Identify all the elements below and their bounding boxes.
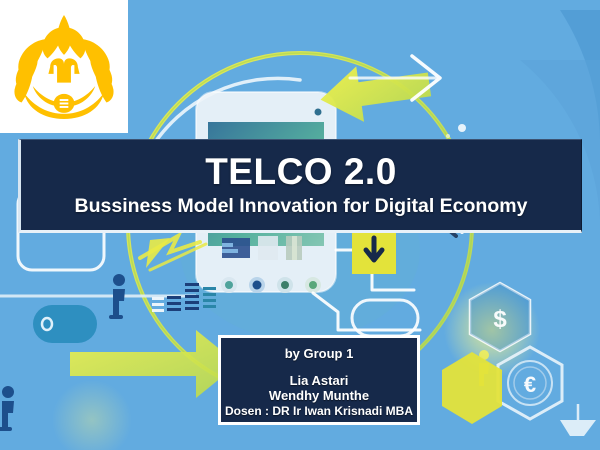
university-logo-plate: [0, 0, 128, 133]
author-name-1: Lia Astari: [290, 374, 349, 389]
slide-subtitle: Bussiness Model Innovation for Digital E…: [75, 196, 528, 217]
advisor-label: Dosen : DR Ir Iwan Krisnadi MBA: [225, 404, 413, 418]
title-banner: TELCO 2.0 Bussiness Model Innovation for…: [18, 139, 582, 233]
makara-logo-icon: [12, 13, 116, 121]
author-group-label: by Group 1: [285, 346, 354, 361]
author-box: by Group 1 Lia Astari Wendhy Munthe Dose…: [218, 335, 420, 425]
presentation-slide: $ €: [0, 0, 600, 450]
slide-title: TELCO 2.0: [205, 153, 397, 192]
svg-text:€: €: [524, 372, 536, 397]
author-name-2: Wendhy Munthe: [269, 389, 369, 404]
svg-text:$: $: [493, 306, 507, 333]
